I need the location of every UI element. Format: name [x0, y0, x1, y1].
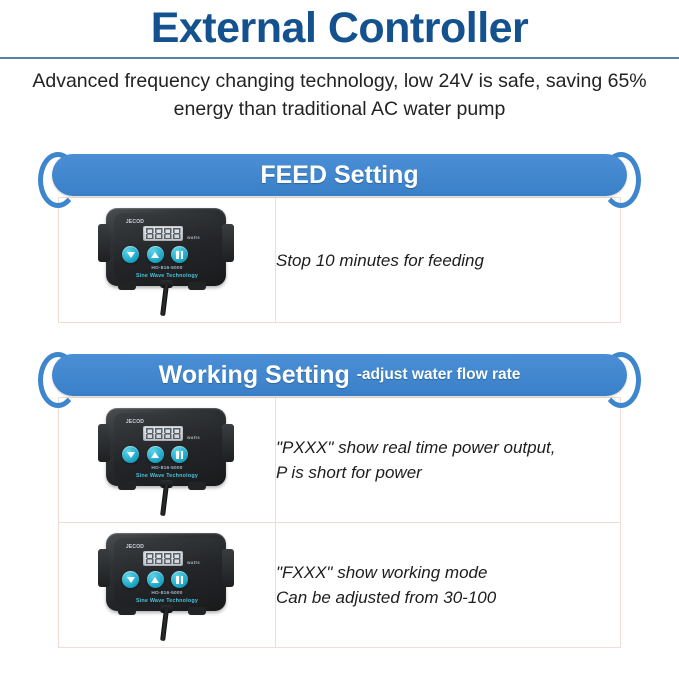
device-foot-left	[118, 607, 136, 615]
up-button[interactable]	[147, 571, 164, 588]
feed-banner-title: FEED Setting	[260, 161, 418, 190]
seven-segment-digit	[173, 228, 181, 239]
section-working: Working Setting -adjust water flow rate …	[0, 353, 679, 648]
device-cable	[160, 609, 169, 641]
down-button[interactable]	[122, 571, 139, 588]
up-arrow-icon	[151, 252, 159, 258]
working-banner-title: Working Setting	[159, 361, 350, 390]
spacer	[0, 123, 679, 153]
description-line-1: Stop 10 minutes for feeding	[276, 248, 620, 273]
working-banner-pill: Working Setting -adjust water flow rate	[52, 354, 627, 396]
device-model-label: HO-816-5000	[92, 466, 242, 471]
pause-button[interactable]	[171, 571, 188, 588]
device-slogan-label: Sine Wave Technology	[92, 473, 242, 479]
led-display	[143, 426, 183, 441]
display-unit-label: watts	[187, 560, 200, 565]
pause-icon	[176, 576, 183, 584]
description-line-1: "PXXX" show real time power output,	[276, 435, 620, 460]
description-cell: "FXXX" show working mode Can be adjusted…	[276, 523, 621, 648]
feed-table: JECOD watts HO-816-	[58, 197, 621, 323]
device-button-row	[122, 246, 188, 263]
page-header: External Controller Advanced frequency c…	[0, 2, 679, 123]
led-display	[143, 226, 183, 241]
device-cell: JECOD watts HO-816-	[59, 198, 276, 323]
device-mount-right	[222, 224, 234, 262]
working-banner-subtitle: -adjust water flow rate	[357, 366, 521, 384]
up-arrow-icon	[151, 577, 159, 583]
pause-icon	[176, 251, 183, 259]
led-display	[143, 551, 183, 566]
device-mount-left	[98, 549, 110, 587]
description-line-2: P is short for power	[276, 460, 620, 485]
seven-segment-digit	[146, 553, 154, 564]
device-foot-right	[188, 482, 206, 490]
down-button[interactable]	[122, 246, 139, 263]
controller-device-image: JECOD watts HO-816-	[92, 404, 242, 516]
page-subtitle: Advanced frequency changing technology, …	[26, 67, 653, 123]
seven-segment-digit	[155, 228, 163, 239]
device-mount-right	[222, 424, 234, 462]
controller-device-image: JECOD watts HO-816-	[92, 529, 242, 641]
device-cell: JECOD watts HO-816-	[59, 398, 276, 523]
working-banner: Working Setting -adjust water flow rate	[38, 353, 641, 397]
up-arrow-icon	[151, 452, 159, 458]
down-arrow-icon	[127, 252, 135, 258]
device-button-row	[122, 571, 188, 588]
table-row: JECOD watts HO-816-	[59, 523, 621, 648]
seven-segment-digit	[173, 553, 181, 564]
device-slogan-label: Sine Wave Technology	[92, 273, 242, 279]
seven-segment-digit	[146, 428, 154, 439]
description-cell: "PXXX" show real time power output, P is…	[276, 398, 621, 523]
device-foot-right	[188, 607, 206, 615]
device-foot-left	[118, 282, 136, 290]
page-title: External Controller	[0, 2, 679, 54]
controller-device-image: JECOD watts HO-816-	[92, 204, 242, 316]
up-button[interactable]	[147, 446, 164, 463]
up-button[interactable]	[147, 246, 164, 263]
device-cable	[160, 284, 169, 316]
device-mount-right	[222, 549, 234, 587]
table-row: JECOD watts HO-816-	[59, 198, 621, 323]
device-model-label: HO-816-5000	[92, 591, 242, 596]
down-button[interactable]	[122, 446, 139, 463]
feed-banner: FEED Setting	[38, 153, 641, 197]
pause-icon	[176, 451, 183, 459]
title-divider	[0, 57, 679, 59]
pause-button[interactable]	[171, 446, 188, 463]
section-feed: FEED Setting JECOD	[0, 153, 679, 323]
seven-segment-digit	[164, 553, 172, 564]
spacer	[0, 323, 679, 353]
device-cell: JECOD watts HO-816-	[59, 523, 276, 648]
table-row: JECOD watts HO-816-	[59, 398, 621, 523]
working-table: JECOD watts HO-816-	[58, 397, 621, 648]
device-cable	[160, 484, 169, 516]
pause-button[interactable]	[171, 246, 188, 263]
display-unit-label: watts	[187, 235, 200, 240]
seven-segment-digit	[155, 428, 163, 439]
seven-segment-digit	[173, 428, 181, 439]
seven-segment-digit	[155, 553, 163, 564]
device-model-label: HO-816-5000	[92, 266, 242, 271]
device-foot-right	[188, 282, 206, 290]
seven-segment-digit	[164, 428, 172, 439]
device-slogan-label: Sine Wave Technology	[92, 598, 242, 604]
description-line-1: "FXXX" show working mode	[276, 560, 620, 585]
device-mount-left	[98, 424, 110, 462]
device-mount-left	[98, 224, 110, 262]
description-cell: Stop 10 minutes for feeding	[276, 198, 621, 323]
down-arrow-icon	[127, 577, 135, 583]
device-foot-left	[118, 482, 136, 490]
seven-segment-digit	[164, 228, 172, 239]
display-unit-label: watts	[187, 435, 200, 440]
description-line-2: Can be adjusted from 30-100	[276, 585, 620, 610]
down-arrow-icon	[127, 452, 135, 458]
seven-segment-digit	[146, 228, 154, 239]
device-button-row	[122, 446, 188, 463]
feed-banner-pill: FEED Setting	[52, 154, 627, 196]
